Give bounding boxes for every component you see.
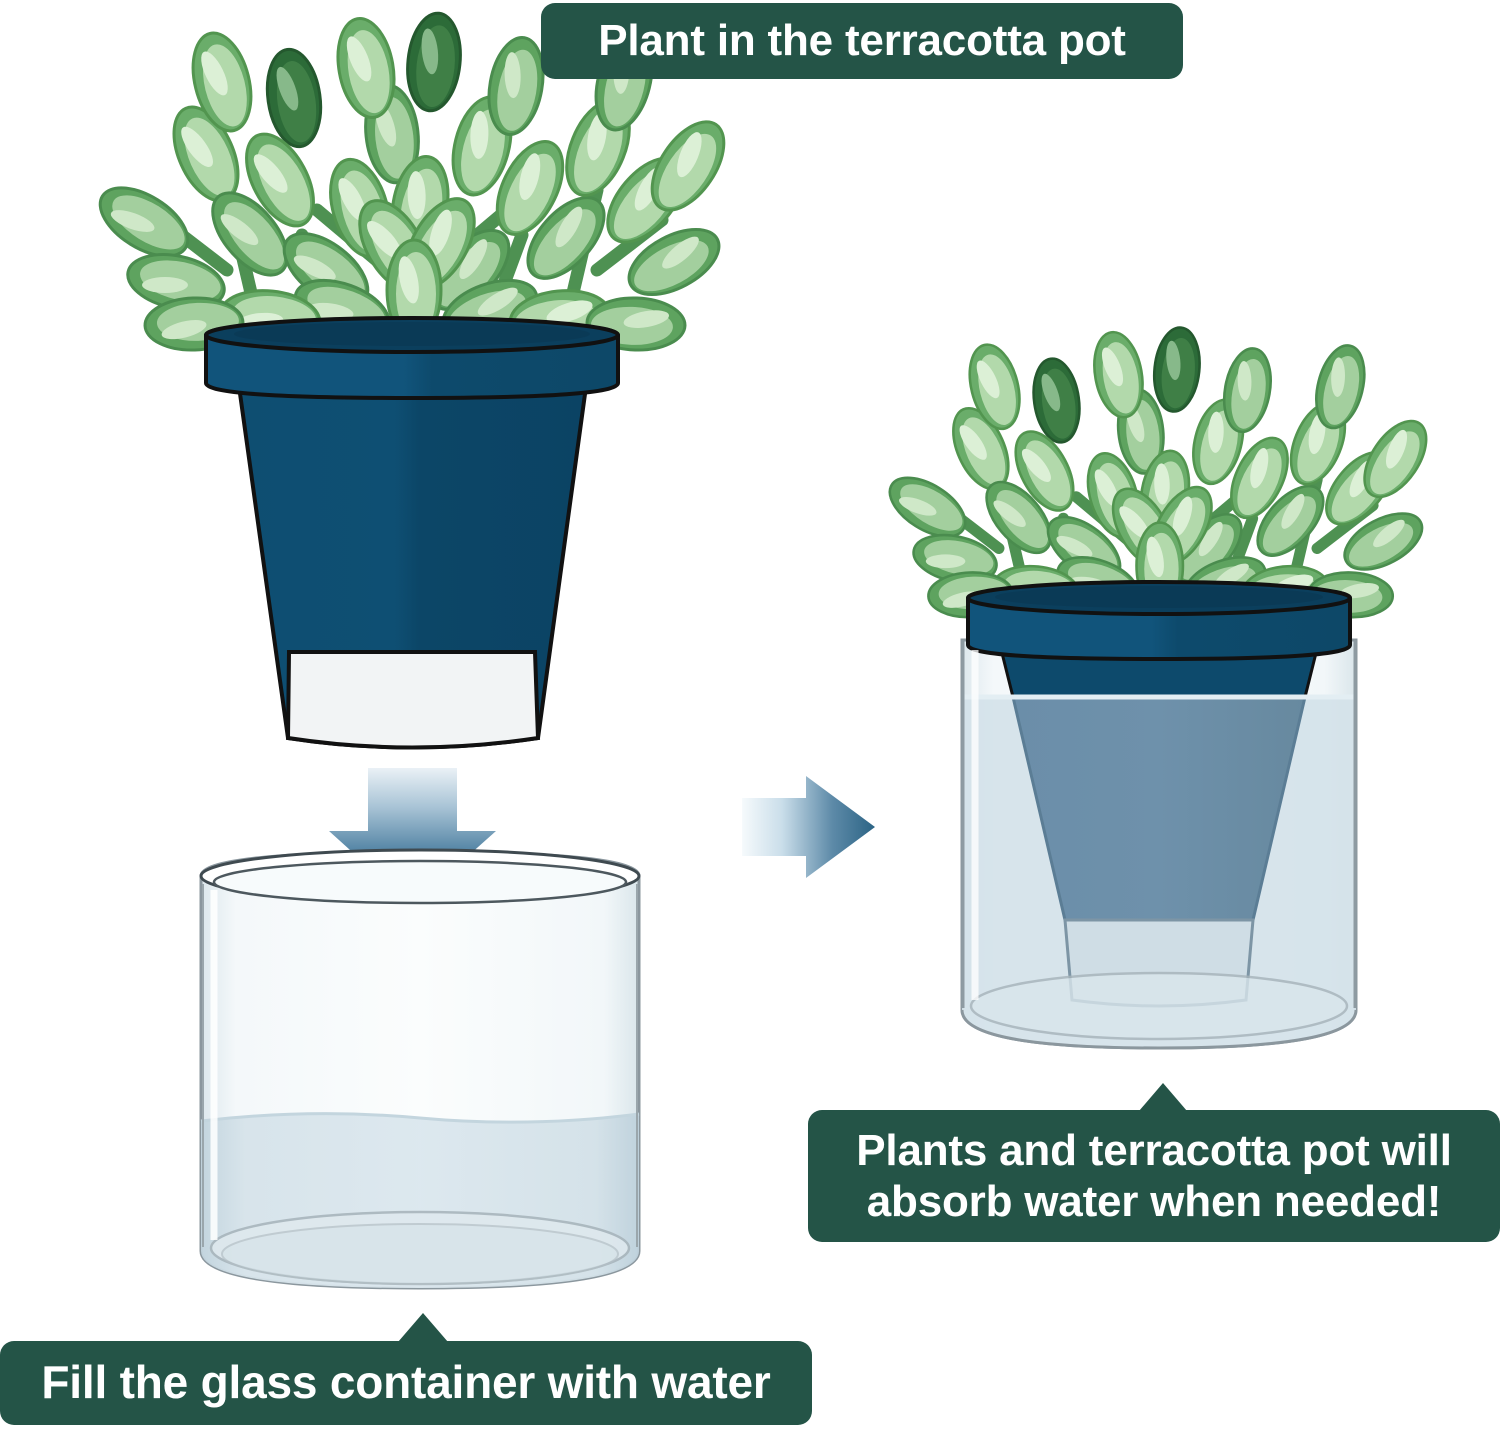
callout-fill-water: Fill the glass container with water — [0, 1341, 812, 1425]
assembled-planter-illustration — [880, 325, 1439, 1048]
callout-fill-water-label: Fill the glass container with water — [34, 1356, 778, 1409]
succulent-plant-right — [880, 325, 1439, 618]
callout-absorb-water-line-2: absorb water when needed! — [838, 1176, 1470, 1227]
glass-rim-inner — [214, 861, 626, 903]
pot-white-band-left — [288, 652, 538, 748]
potted-plant-illustration — [89, 11, 739, 748]
infographic-canvas: Plant in the terracotta pot Fill the gla… — [0, 0, 1500, 1430]
callout-absorb-water-line-1: Plants and terracotta pot will — [838, 1125, 1470, 1176]
callout-plant-in-pot-label: Plant in the terracotta pot — [567, 15, 1157, 66]
right-arrow — [742, 776, 875, 878]
callout-plant-in-pot: Plant in the terracotta pot — [541, 3, 1183, 79]
assembled-pot-inner-opening — [995, 586, 1323, 608]
glass-floor-shadow — [222, 1224, 618, 1284]
callout-absorb-water-label: Plants and terracotta pot will absorb wa… — [838, 1125, 1470, 1227]
glass-container-illustration — [201, 850, 639, 1288]
callout-tail-absorb-water — [1139, 1083, 1187, 1111]
pot-inner-opening-left — [234, 322, 590, 346]
assembled-glass-floor — [971, 973, 1347, 1039]
assembled-pot-submerged — [1013, 697, 1305, 920]
callout-absorb-water: Plants and terracotta pot will absorb wa… — [808, 1110, 1500, 1242]
callout-tail-fill-water — [398, 1313, 448, 1342]
